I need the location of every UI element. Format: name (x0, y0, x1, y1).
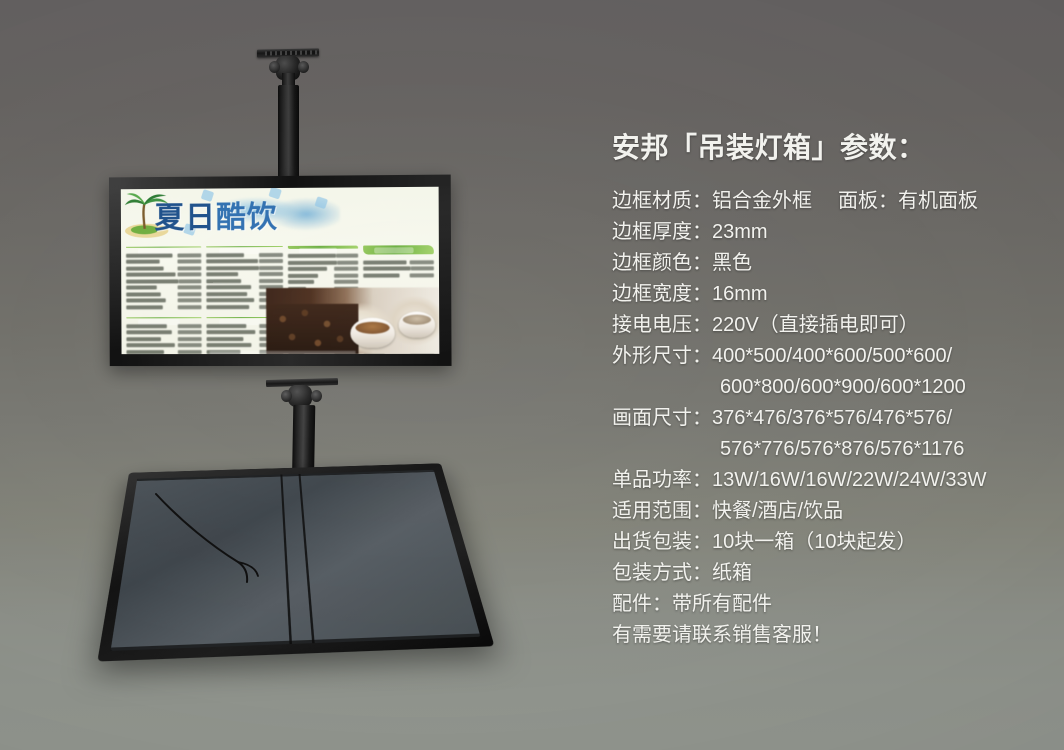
menu-section-rows (126, 323, 202, 354)
menu-item-row (126, 336, 202, 341)
menu-item-row (126, 330, 202, 335)
menu-section-header (363, 245, 434, 254)
menu-item-row (207, 258, 283, 263)
spec-line-picture-size-cont: 576*776/576*876/576*1176 (612, 434, 1052, 465)
light-box-lower (97, 463, 494, 661)
plate-holes (265, 50, 317, 55)
menu-item-row (126, 323, 202, 328)
menu-item-row (207, 265, 283, 270)
spec-line-contact: 有需要请联系销售客服！ (612, 620, 1052, 651)
menu-item-row (363, 272, 434, 277)
menu-item-row (126, 343, 202, 348)
menu-item-row (207, 278, 283, 283)
menu-item-row (288, 266, 358, 271)
spec-line-packing-method: 包装方式：纸箱 (612, 558, 1052, 589)
ceiling-mount-top (254, 49, 324, 189)
light-box-frame-rear (97, 463, 494, 661)
spec-text: 边框材质：铝合金外框 (612, 190, 812, 212)
spec-line-outer-size-cont: 600*800/600*900/600*1200 (612, 372, 1052, 403)
coffee-cup-back-icon (399, 312, 436, 338)
spec-line-frame-thickness: 边框厚度：23mm (612, 217, 1052, 248)
spec-line-frame-material: 边框材质：铝合金外框面板：有机面板 (612, 186, 1052, 217)
menu-item-row (126, 252, 202, 257)
spec-text-extra: 面板：有机面板 (838, 190, 978, 212)
menu-section-header (206, 246, 282, 247)
menu-item-row (126, 291, 202, 296)
menu-hero-banner: 夏日酷饮 (121, 187, 439, 247)
menu-item-row (363, 259, 434, 264)
menu-item-row (126, 298, 202, 303)
spec-line-picture-size: 画面尺寸：376*476/376*576/476*576/ (612, 403, 1052, 434)
menu-item-row (126, 259, 202, 264)
menu-item-row (126, 304, 202, 309)
menu-hero-title-part1: 夏日 (154, 201, 216, 234)
light-box-back-panel (111, 470, 481, 651)
menu-item-row (288, 279, 358, 284)
menu-item-row (126, 349, 202, 354)
menu-item-row (288, 273, 358, 278)
menu-watermark (210, 350, 356, 353)
knuckle-bolt-left (269, 61, 280, 73)
knuckle-bolt-right (311, 390, 322, 402)
menu-section-rows (363, 259, 434, 277)
menu-section-header (126, 246, 201, 247)
menu-item-row (363, 266, 434, 271)
menu-item-row (126, 285, 202, 290)
spec-line-accessories: 配件：带所有配件 (612, 589, 1052, 620)
spec-line-application: 适用范围：快餐/酒店/饮品 (612, 496, 1052, 527)
menu-hero-title-part2: 酷饮 (216, 201, 278, 234)
menu-poster: 夏日酷饮 (121, 187, 440, 354)
menu-item-row (126, 265, 202, 270)
menu-item-row (288, 253, 358, 258)
spec-line-power: 单品功率：13W/16W/16W/22W/24W/33W (612, 465, 1052, 496)
menu-coffee-photo (266, 287, 439, 354)
mount-pole-top (278, 85, 299, 189)
menu-item-row (288, 260, 358, 265)
menu-section-header (287, 246, 357, 249)
menu-hero-title: 夏日酷饮 (154, 192, 277, 237)
product-spec-image: 夏日酷饮 (0, 0, 1064, 750)
spec-title: 安邦「吊装灯箱」参数： (612, 126, 1052, 166)
knuckle-bolt-right (298, 61, 309, 73)
menu-item-row (126, 272, 202, 277)
spec-line-outer-size: 外形尺寸：400*500/400*600/500*600/ (612, 341, 1052, 372)
coffee-cup-front-icon (350, 318, 394, 348)
menu-section-header (126, 317, 201, 318)
knuckle-bolt-left (281, 390, 292, 402)
spec-line-frame-color: 边框颜色：黑色 (612, 248, 1052, 279)
menu-item-row (126, 278, 202, 283)
menu-column (126, 246, 202, 354)
light-box-upper: 夏日酷饮 (109, 175, 452, 367)
spec-panel: 安邦「吊装灯箱」参数： 边框材质：铝合金外框面板：有机面板 边框厚度：23mm … (612, 126, 1052, 651)
spec-line-shipping-pack: 出货包装：10块一箱（10块起发） (612, 527, 1052, 558)
menu-item-row (207, 271, 283, 276)
menu-section-rows (126, 252, 202, 309)
spec-line-frame-width: 边框宽度：16mm (612, 279, 1052, 310)
spec-line-voltage: 接电电压：220V（直接插电即可） (612, 310, 1052, 341)
